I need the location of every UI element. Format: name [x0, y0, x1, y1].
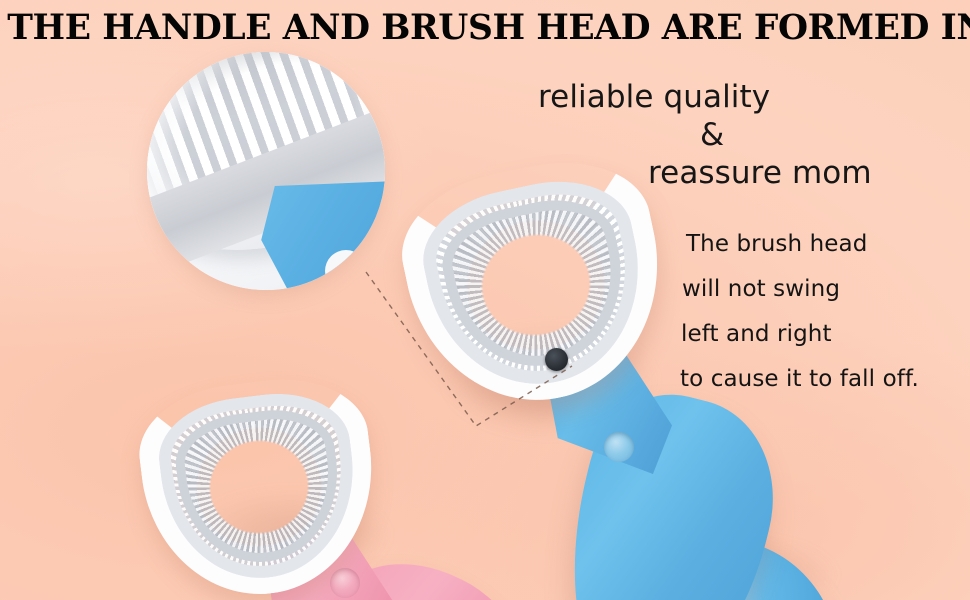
blue-handle-hole: [604, 432, 634, 462]
claim-line-4: to cause it to fall off.: [668, 357, 968, 402]
inset-handle-notch: [325, 250, 367, 290]
claim-line-2: will not swing: [668, 267, 968, 312]
pivot-stud: [545, 348, 568, 371]
pink-handle-hole: [330, 568, 360, 598]
slogan-line-1: reliable quality: [500, 78, 920, 116]
page-title: THE HANDLE AND BRUSH HEAD ARE FORMED IN …: [7, 8, 962, 48]
claim-block: The brush head will not swing left and r…: [668, 222, 968, 402]
slogan-block: reliable quality & reassure mom: [500, 78, 920, 192]
claim-line-1: The brush head: [668, 222, 968, 267]
magnified-detail-inset: [147, 52, 385, 290]
slogan-line-3: reassure mom: [500, 154, 920, 192]
product-poster: THE HANDLE AND BRUSH HEAD ARE FORMED IN …: [0, 0, 970, 600]
claim-line-3: left and right: [668, 312, 968, 357]
slogan-ampersand: &: [500, 116, 920, 154]
